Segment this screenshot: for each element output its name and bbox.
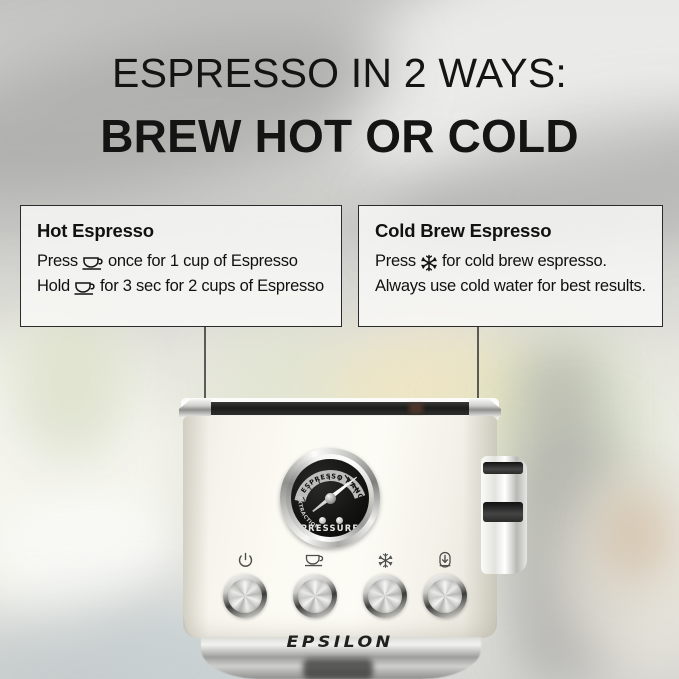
power-icon: [233, 549, 257, 571]
steam-knob-slot-bottom: [483, 502, 523, 522]
callout-cold-line-1-after: for cold brew espresso.: [442, 249, 607, 274]
espresso-button[interactable]: [293, 574, 337, 618]
steam-button-knob: [428, 579, 462, 613]
cup-icon: [74, 280, 96, 296]
callout-cold-brew-espresso: Cold Brew Espresso Press: [358, 205, 663, 327]
snowflake-icon: [373, 549, 397, 571]
cold-brew-button-knob: [368, 579, 402, 613]
snowflake-icon: [420, 254, 438, 272]
callout-hot-line-1: Press once for 1 cup of Espresso: [37, 249, 327, 274]
steam-icon: [433, 549, 457, 571]
cup-icon: [82, 255, 104, 271]
callout-hot-espresso: Hot Espresso Press once for 1 cup of Esp…: [20, 205, 342, 327]
gauge-screw-right: [336, 517, 343, 524]
machine-base-shadow: [303, 659, 373, 679]
callout-cold-line-1-before: Press: [375, 249, 416, 274]
power-button-knob: [228, 579, 262, 613]
callout-hot-line-1-before: Press: [37, 249, 78, 274]
gauge-screw-left: [319, 517, 326, 524]
gauge-face: ESPRESSO RANGE EXTRACTION PRESSURE: [291, 459, 369, 537]
espresso-button-knob: [298, 579, 332, 613]
background-blur-cabinet-lower-left: [0, 490, 170, 600]
power-button[interactable]: [223, 574, 267, 618]
product-infographic: ESPRESSO IN 2 WAYS: BREW HOT OR COLD Hot…: [0, 0, 679, 679]
brand-label: EPSILON: [162, 632, 518, 651]
headline-line-2: BREW HOT OR COLD: [0, 112, 679, 160]
callout-cold-line-2-text: Always use cold water for best results.: [375, 274, 646, 299]
callout-hot-line-2: Hold for 3 sec for 2 cups of Espresso: [37, 274, 327, 299]
callout-cold-title: Cold Brew Espresso: [375, 220, 648, 242]
callout-hot-title: Hot Espresso: [37, 220, 327, 242]
gauge-hub: [325, 493, 336, 504]
cup-icon: [303, 549, 327, 571]
pressure-gauge: ESPRESSO RANGE EXTRACTION PRESSURE: [280, 448, 380, 548]
steam-knob-slot-top: [483, 462, 523, 474]
control-button-row: [175, 556, 505, 626]
machine-top-slot: [209, 402, 471, 415]
callout-cold-line-2: Always use cold water for best results.: [375, 274, 648, 299]
steam-button[interactable]: [423, 574, 467, 618]
headline-line-1: ESPRESSO IN 2 WAYS:: [0, 52, 679, 95]
callout-hot-line-1-after: once for 1 cup of Espresso: [108, 249, 298, 274]
callout-cold-line-1: Press: [375, 249, 648, 274]
gauge-pressure-label: PRESSURE: [301, 523, 360, 533]
callout-hot-line-2-before: Hold: [37, 274, 70, 299]
background-blur-warm-dot-right: [600, 490, 670, 580]
cold-brew-button[interactable]: [363, 574, 407, 618]
espresso-machine: ESPRESSO RANGE EXTRACTION PRESSURE: [175, 388, 505, 679]
callout-hot-line-2-after: for 3 sec for 2 cups of Espresso: [100, 274, 324, 299]
